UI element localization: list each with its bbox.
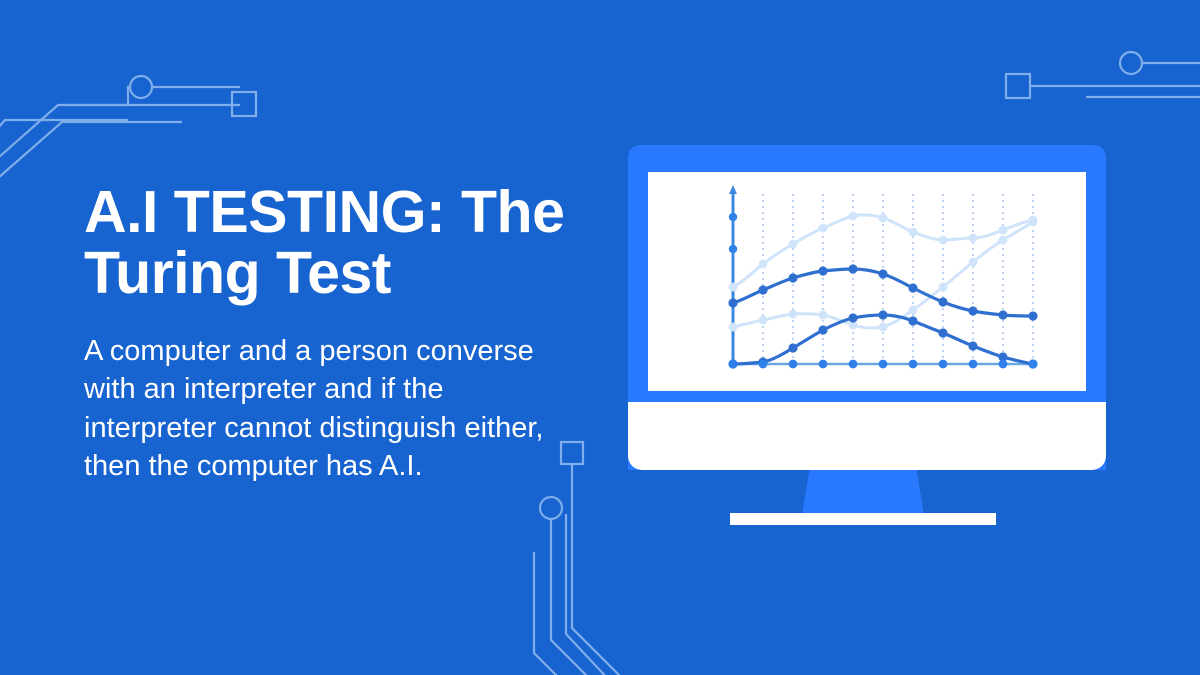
page-title: A.I TESTING: The Turing Test <box>84 182 604 304</box>
circle-node <box>130 76 152 98</box>
square-node <box>232 92 256 116</box>
y-axis-arrow <box>729 185 737 194</box>
line-chart <box>648 172 1086 391</box>
text-block: A.I TESTING: The Turing Test A computer … <box>84 182 604 486</box>
square-node <box>1006 74 1030 98</box>
monitor-illustration <box>628 145 1106 470</box>
circle-node <box>540 497 562 519</box>
monitor-foot <box>730 513 996 525</box>
monitor-screen <box>648 172 1086 391</box>
circuit-top-right <box>1006 52 1200 98</box>
circle-node <box>1120 52 1142 74</box>
circuit-top-left <box>0 76 256 185</box>
body-copy: A computer and a person converse with an… <box>84 332 554 486</box>
monitor-stand <box>802 470 924 515</box>
monitor-chin <box>628 402 1106 470</box>
slide-canvas: A.I TESTING: The Turing Test A computer … <box>0 0 1200 675</box>
